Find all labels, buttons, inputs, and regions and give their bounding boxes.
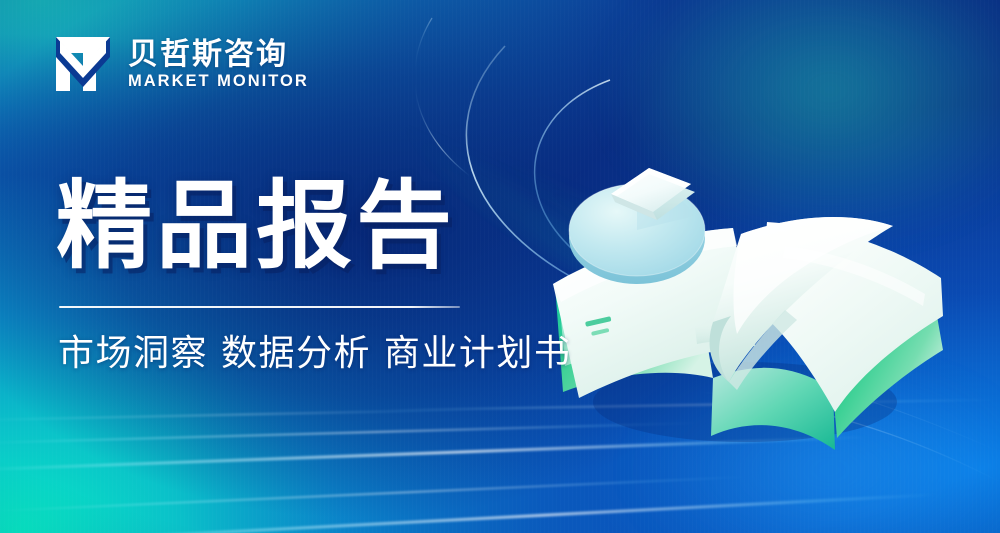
- brand-name-en: MARKET MONITOR: [128, 73, 309, 90]
- open-book-illustration: [545, 150, 945, 450]
- page-title: 精品报告: [56, 176, 456, 277]
- market-monitor-m-logo-icon: [52, 33, 114, 95]
- page-subtitle: 市场洞察 数据分析 商业计划书: [58, 331, 571, 376]
- report-banner-poster: 贝哲斯咨询 MARKET MONITOR 精品报告 市场洞察 数据分析 商业计划…: [0, 0, 1000, 533]
- brand-logo[interactable]: 贝哲斯咨询 MARKET MONITOR: [52, 33, 309, 95]
- brand-logo-text: 贝哲斯咨询 MARKET MONITOR: [128, 39, 309, 90]
- title-divider: [59, 306, 460, 308]
- content-area: 贝哲斯咨询 MARKET MONITOR 精品报告 市场洞察 数据分析 商业计划…: [0, 0, 560, 533]
- brand-name-cn: 贝哲斯咨询: [128, 39, 309, 71]
